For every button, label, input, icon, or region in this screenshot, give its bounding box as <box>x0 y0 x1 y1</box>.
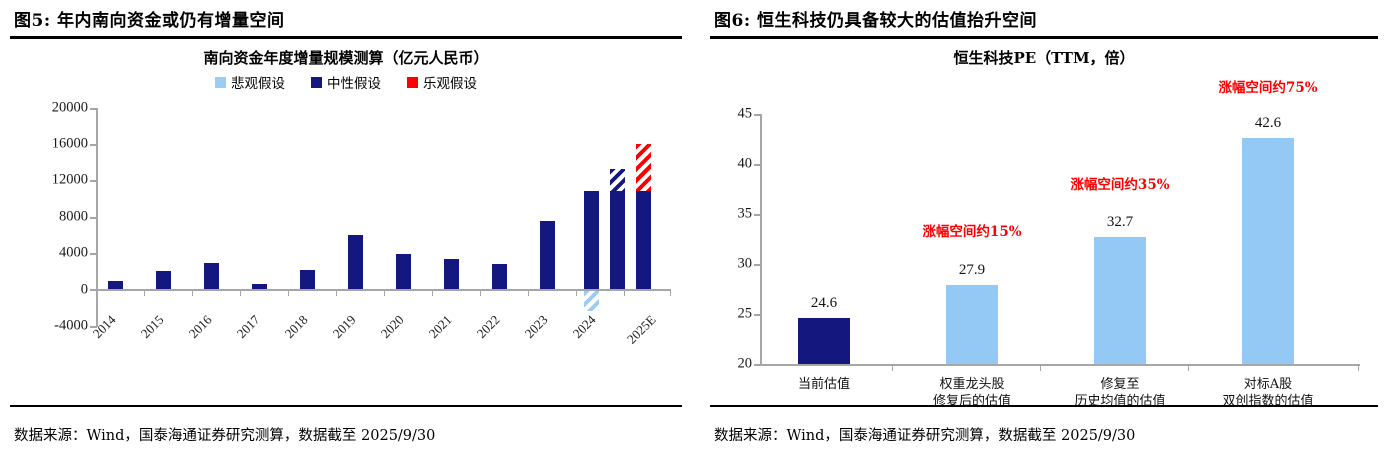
figure-6-caption: 图6: 恒生科技仍具备较大的估值抬升空间 <box>710 0 1378 36</box>
x-tickmark <box>670 289 671 296</box>
x-tickmark <box>576 289 577 296</box>
figure-6-source: 数据来源：Wind，国泰海通证券研究测算，数据截至 2025/9/30 <box>710 417 1135 445</box>
y-tickmark-4000 <box>90 253 97 255</box>
y-tickmark-25 <box>754 314 761 316</box>
y-tickmark-16000 <box>90 144 97 146</box>
bar-2025E-pessimistic-negative <box>584 291 599 311</box>
x-label-2022: 2022 <box>474 312 504 342</box>
bar-current-valuation <box>798 318 850 364</box>
y-tickmark-35 <box>754 214 761 216</box>
x-label-line2: 历史均值的估值 <box>1060 393 1180 410</box>
bar-2025E-pessimistic-base <box>584 191 599 289</box>
y-tickmark-8000 <box>90 217 97 219</box>
x-tickmark <box>384 289 385 296</box>
x-label-line1: 当前估值 <box>764 376 884 393</box>
x-tickmark <box>624 289 625 296</box>
y-tick-20: 20 <box>710 356 752 373</box>
x-tickmark <box>1188 364 1189 371</box>
annotation-upside-35: 涨幅空间约35% <box>1070 173 1169 193</box>
y-tick-20000: 20000 <box>10 100 88 117</box>
x-tickmark <box>1040 364 1041 371</box>
figure-6-plot: 45 40 35 30 25 20 24.6 27.9 <box>710 44 1378 379</box>
x-label-2018: 2018 <box>282 312 312 342</box>
bar-2025E-optimistic-base <box>636 191 651 289</box>
bar-historical-mean <box>1094 237 1146 364</box>
bar-2018 <box>252 284 267 289</box>
figure-6-source-rule <box>710 405 1378 407</box>
figure-6-panel: 图6: 恒生科技仍具备较大的估值抬升空间 恒生科技PE（TTM，倍） 45 40… <box>696 0 1392 453</box>
y-tickmark-20 <box>754 364 761 366</box>
data-label-historical-mean: 32.7 <box>1107 214 1133 231</box>
x-label-2024: 2024 <box>570 312 600 342</box>
y-tickmark-12000 <box>90 180 97 182</box>
bar-2015 <box>108 281 123 289</box>
bar-a-share-benchmark <box>1242 138 1294 364</box>
bar-2022 <box>444 259 459 289</box>
x-tickmark <box>336 289 337 296</box>
y-tick-neg4000: -4000 <box>10 318 88 335</box>
bar-2020 <box>348 235 363 289</box>
x-label-2020: 2020 <box>378 312 408 342</box>
x-tickmark <box>1358 364 1359 371</box>
y-tick-8000: 8000 <box>10 209 88 226</box>
x-tickmark <box>288 289 289 296</box>
data-label-a-share-benchmark: 42.6 <box>1255 115 1281 132</box>
y-tick-4000: 4000 <box>10 245 88 262</box>
x-label-line1: 权重龙头股 <box>912 376 1032 393</box>
x-tickmark <box>96 289 97 296</box>
x-label-2016: 2016 <box>186 312 216 342</box>
y-tick-16000: 16000 <box>10 136 88 153</box>
y-tick-40: 40 <box>710 156 752 173</box>
bar-leader-repair <box>946 285 998 364</box>
x-tickmark <box>192 289 193 296</box>
bar-2025E-neutral-uplift <box>610 169 625 191</box>
bar-2017 <box>204 263 219 289</box>
x-label-2023: 2023 <box>522 312 552 342</box>
bar-2024 <box>540 221 555 289</box>
x-label-line2: 双创指数的估值 <box>1208 393 1328 410</box>
y-tickmark-45 <box>754 114 761 116</box>
x-tickmark <box>432 289 433 296</box>
y-tickmark-20000 <box>90 108 97 110</box>
x-label-line1: 对标A股 <box>1208 376 1328 393</box>
x-label-2015: 2015 <box>138 312 168 342</box>
figure-5-panel: 图5: 年内南向资金或仍有增量空间 南向资金年度增量规模测算（亿元人民币） 悲观… <box>0 0 696 453</box>
bar-2025E-optimistic-uplift <box>636 144 651 191</box>
figure-5-source: 数据来源：Wind，国泰海通证券研究测算，数据截至 2025/9/30 <box>10 417 435 445</box>
y-tickmark-30 <box>754 264 761 266</box>
x-label-2017: 2017 <box>234 312 264 342</box>
annotation-upside-75: 涨幅空间约75% <box>1218 76 1317 96</box>
y-tick-0: 0 <box>10 282 88 299</box>
bar-2019 <box>300 270 315 289</box>
bar-2021 <box>396 254 411 289</box>
figure-5-source-rule <box>10 405 682 407</box>
bar-2016 <box>156 271 171 289</box>
x-tickmark <box>528 289 529 296</box>
x-label-2025E: 2025E <box>624 312 659 347</box>
y-tickmark-40 <box>754 164 761 166</box>
x-tickmark <box>144 289 145 296</box>
y-tick-35: 35 <box>710 206 752 223</box>
y-axis-line <box>760 114 762 366</box>
x-label-2019: 2019 <box>330 312 360 342</box>
x-label-2014: 2014 <box>90 312 120 342</box>
y-tick-12000: 12000 <box>10 172 88 189</box>
x-label-line1: 修复至 <box>1060 376 1180 393</box>
figure-5-caption: 图5: 年内南向资金或仍有增量空间 <box>10 0 682 36</box>
x-tickmark <box>240 289 241 296</box>
x-label-current-valuation: 当前估值 <box>764 376 884 393</box>
figure-5-plot: 20000 16000 12000 8000 4000 0 -4000 <box>10 36 682 371</box>
bar-2023 <box>492 264 507 289</box>
x-axis-line <box>760 364 1360 366</box>
data-label-current-valuation: 24.6 <box>811 295 837 312</box>
x-tickmark <box>480 289 481 296</box>
x-label-2021: 2021 <box>426 312 456 342</box>
data-label-leader-repair: 27.9 <box>959 262 985 279</box>
figure-pair: 图5: 年内南向资金或仍有增量空间 南向资金年度增量规模测算（亿元人民币） 悲观… <box>0 0 1392 453</box>
y-tick-25: 25 <box>710 306 752 323</box>
x-tickmark <box>892 364 893 371</box>
y-tick-45: 45 <box>710 106 752 123</box>
x-label-line2: 修复后的估值 <box>912 393 1032 410</box>
bar-2025E-neutral-base <box>610 191 625 289</box>
y-tick-30: 30 <box>710 256 752 273</box>
annotation-upside-15: 涨幅空间约15% <box>922 220 1021 240</box>
